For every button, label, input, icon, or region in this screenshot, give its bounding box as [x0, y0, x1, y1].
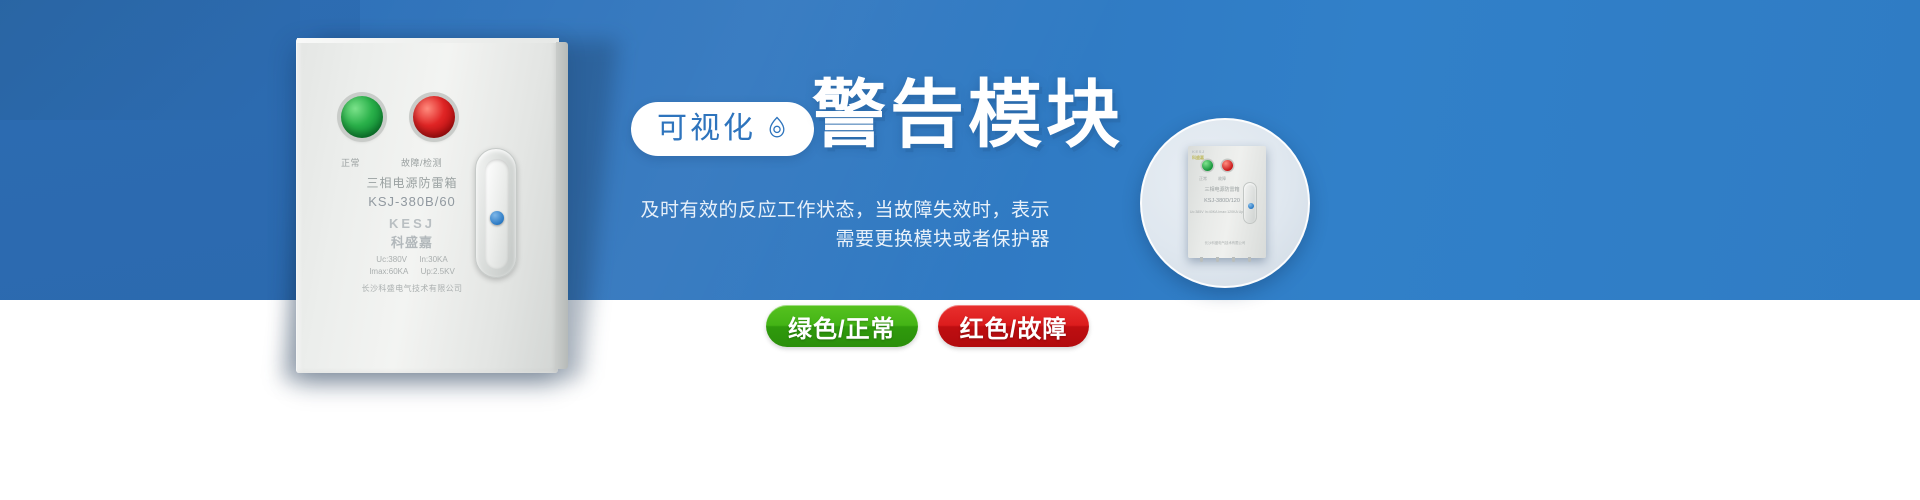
inset-device-body: KESJ 科盛嘉 正常 故障 三相电源防雷箱 KSJ-380D/120 Uc:3…	[1188, 146, 1266, 258]
inset-switch-indicator	[1248, 203, 1254, 209]
visualization-badge: 可视化	[631, 102, 814, 156]
subtitle-line-2: 需要更换模块或者保护器	[600, 225, 1050, 254]
status-badge-fault: 红色/故障	[938, 305, 1090, 347]
device-spec-in: In:30KA	[419, 255, 447, 264]
device-top-edge	[297, 38, 559, 43]
status-badge-normal: 绿色/正常	[766, 305, 918, 347]
device-spec-imax: Imax:60KA	[369, 267, 408, 276]
inset-red-indicator-lamp	[1222, 160, 1233, 171]
inset-device-company: 长沙科盛电气技术有限公司	[1188, 240, 1262, 245]
lamp-label-normal: 正常	[341, 156, 360, 169]
background-corner-shade	[0, 0, 300, 120]
device-switch-housing	[475, 148, 517, 278]
inset-green-indicator-lamp	[1202, 160, 1213, 171]
device-switch-indicator	[490, 211, 504, 225]
inset-lamp-label-fault: 故障	[1218, 176, 1226, 182]
product-photo-main: 正常 故障/检测 三相电源防雷箱 KSJ-380B/60 KESJ 科盛嘉 Uc…	[296, 38, 558, 373]
inset-brand-cn: 科盛嘉	[1192, 155, 1204, 161]
subtitle-line-1: 及时有效的反应工作状态，当故障失效时，表示	[600, 196, 1050, 225]
subtitle-text: 及时有效的反应工作状态，当故障失效时，表示 需要更换模块或者保护器	[600, 196, 1050, 255]
device-company: 长沙科盛电气技术有限公司	[297, 283, 527, 294]
device-spec-up: Up:2.5KV	[421, 267, 455, 276]
inset-switch-housing	[1243, 182, 1257, 224]
visualization-badge-label: 可视化	[657, 114, 756, 144]
status-tag-row: 绿色/正常 红色/故障	[766, 305, 1089, 347]
promo-banner: 正常 故障/检测 三相电源防雷箱 KSJ-380B/60 KESJ 科盛嘉 Uc…	[0, 0, 1920, 500]
device-spec-uc: Uc:380V	[376, 255, 407, 264]
green-indicator-lamp	[341, 96, 383, 138]
lamp-label-fault: 故障/检测	[401, 156, 442, 169]
product-photo-inset-circle: KESJ 科盛嘉 正常 故障 三相电源防雷箱 KSJ-380D/120 Uc:3…	[1140, 118, 1310, 288]
location-pin-eye-icon	[766, 116, 788, 142]
red-indicator-lamp	[413, 96, 455, 138]
inset-device-feet	[1196, 257, 1256, 262]
page-title: 警告模块	[812, 78, 1124, 152]
inset-brand-mark: KESJ	[1192, 149, 1205, 154]
inset-lamp-label-normal: 正常	[1199, 176, 1207, 182]
